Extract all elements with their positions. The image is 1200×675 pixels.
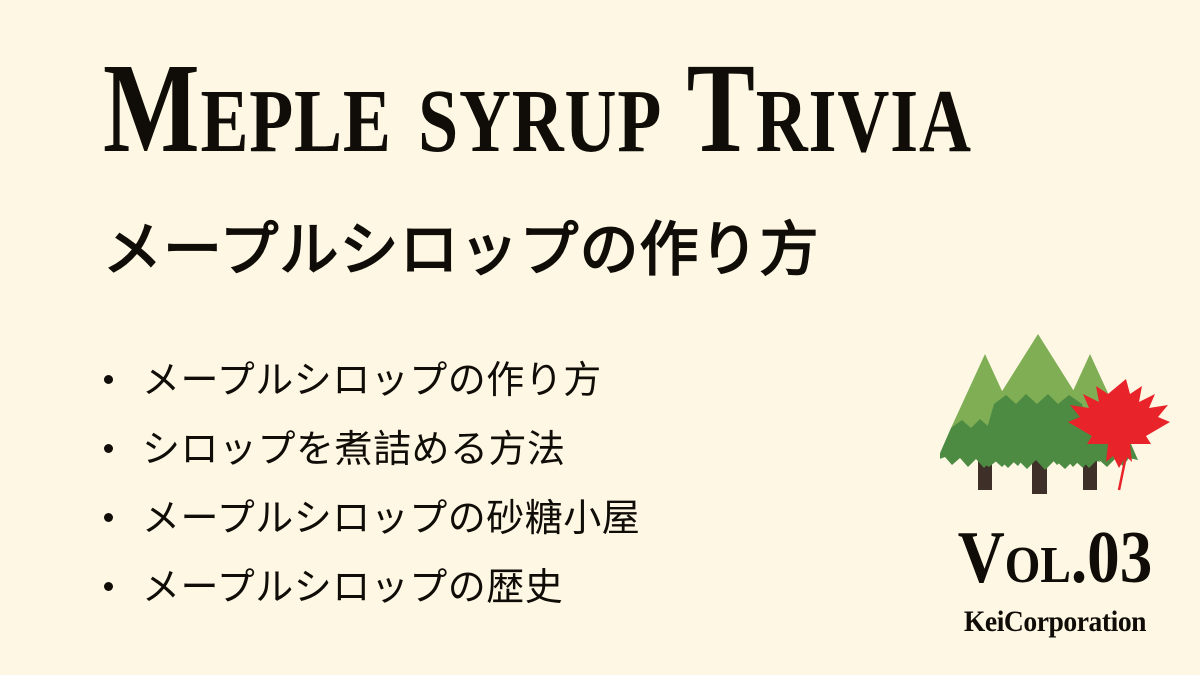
list-item: シロップを煮詰める方法: [100, 414, 800, 483]
bullet-dot-icon: [104, 444, 113, 453]
bullet-dot-icon: [104, 582, 113, 591]
page-title: Meple syrup Trivia: [103, 38, 911, 178]
list-item-label: メープルシロップの歴史: [142, 564, 563, 610]
company-name: KeiCorporation: [935, 605, 1174, 639]
three-pine-trees-and-maple-leaf-icon: [940, 332, 1170, 507]
list-item-label: メープルシロップの砂糖小屋: [142, 495, 640, 541]
volume-label: Vol.03: [941, 519, 1170, 597]
topic-list: メープルシロップの作り方 シロップを煮詰める方法 メープルシロップの砂糖小屋 メ…: [100, 345, 800, 621]
list-item-label: メープルシロップの作り方: [142, 357, 602, 403]
bullet-dot-icon: [104, 513, 113, 522]
bullet-dot-icon: [104, 375, 113, 384]
slide-canvas: Meple syrup Trivia メープルシロップの作り方 メープルシロップ…: [0, 0, 1200, 675]
list-item: メープルシロップの歴史: [100, 552, 800, 621]
list-item: メープルシロップの砂糖小屋: [100, 483, 800, 552]
logo-block: Vol.03 KeiCorporation: [925, 332, 1185, 639]
list-item: メープルシロップの作り方: [100, 345, 800, 414]
page-subtitle: メープルシロップの作り方: [103, 209, 819, 291]
list-item-label: シロップを煮詰める方法: [142, 426, 566, 472]
